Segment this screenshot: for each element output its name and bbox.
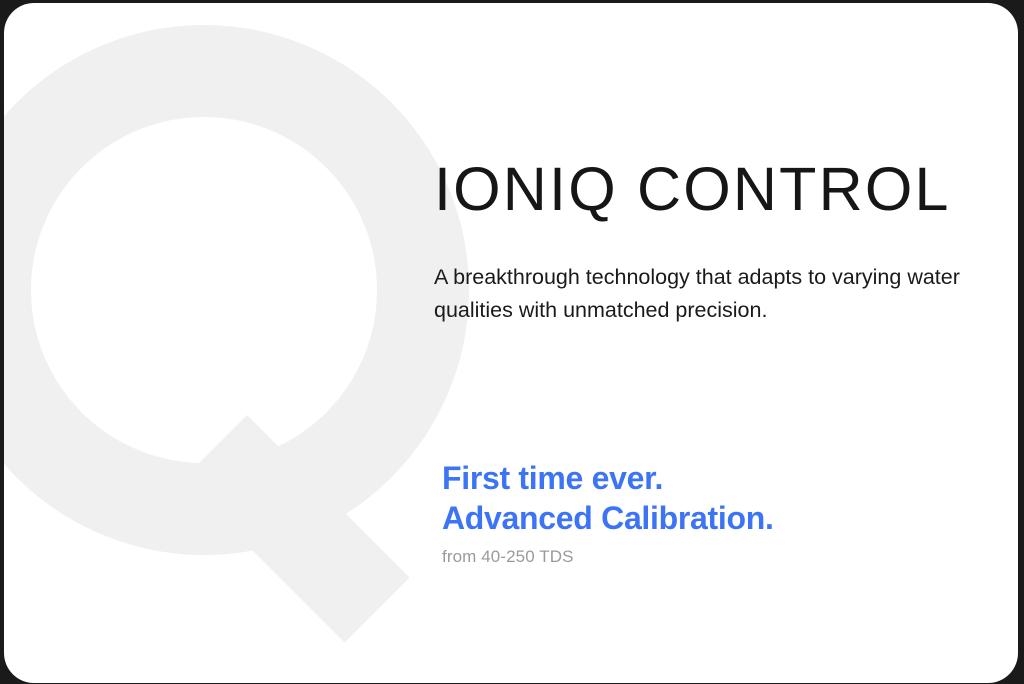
promo-block: First time ever. Advanced Calibration. f…	[442, 458, 994, 567]
promo-headline: First time ever. Advanced Calibration.	[442, 458, 994, 539]
hero-card: IONIQ CONTROL A breakthrough technology …	[4, 3, 1018, 683]
hero-subtitle: A breakthrough technology that adapts to…	[434, 261, 992, 328]
promo-headline-line-2: Advanced Calibration.	[442, 498, 994, 538]
watermark-ring-shape	[4, 25, 469, 555]
promo-headline-line-1: First time ever.	[442, 458, 994, 498]
watermark-q-tail-shape	[182, 415, 410, 643]
hero-content-column: IONIQ CONTROL A breakthrough technology …	[434, 3, 994, 683]
promo-caption: from 40-250 TDS	[442, 547, 994, 567]
slide-canvas: IONIQ CONTROL A breakthrough technology …	[0, 0, 1024, 684]
page-title: IONIQ CONTROL	[434, 157, 951, 223]
